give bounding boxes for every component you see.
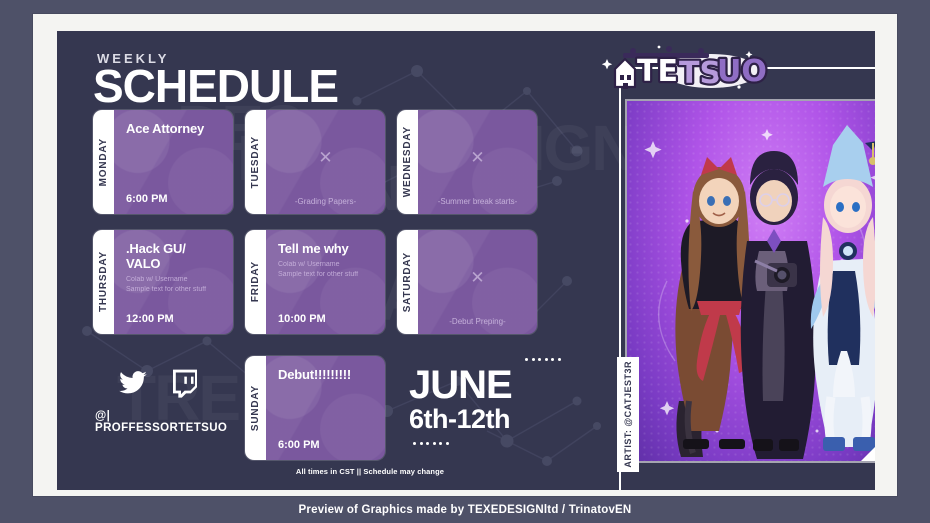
day-tab-wednesday: WEDNESDAY	[397, 110, 418, 214]
corner-cut-decoration	[861, 415, 875, 461]
social-icon-row	[115, 367, 245, 399]
day-card-monday[interactable]: MONDAY Ace Attorney 6:00 PM	[93, 110, 233, 214]
no-stream-x-icon: ✕	[418, 148, 537, 168]
stream-subtitle-line2: Sample text for other stuff	[126, 285, 221, 295]
page-title: SCHEDULE	[93, 64, 338, 109]
character-artwork	[627, 101, 875, 461]
day-label: TUESDAY	[250, 136, 261, 188]
stream-title: Ace Attorney	[126, 121, 221, 136]
no-stream-x-icon: ✕	[266, 148, 385, 168]
no-stream-x-icon: ✕	[418, 268, 537, 288]
stream-note: -Grading Papers-	[266, 197, 385, 206]
dot-decoration-top	[525, 358, 561, 361]
artist-credit: ARTIST: @CATJEST3R	[617, 357, 639, 472]
tetsuo-logo: TE TS UO	[599, 41, 769, 97]
day-card-body: .Hack GU/ VALO Colab w/ Username Sample …	[114, 230, 233, 334]
svg-text:TE: TE	[637, 54, 678, 89]
schedule-left-column: WEEKLY SCHEDULE MONDAY Ace Attorney 6:00…	[57, 31, 619, 490]
date-month: JUNE	[409, 367, 512, 404]
artist-credit-label: ARTIST: @CATJEST3R	[623, 361, 633, 468]
day-label: FRIDAY	[250, 261, 261, 302]
stream-time: 6:00 PM	[126, 193, 221, 205]
day-card-thursday[interactable]: THURSDAY .Hack GU/ VALO Colab w/ Usernam…	[93, 230, 233, 334]
day-tab-sunday: SUNDAY	[245, 356, 266, 460]
day-card-body: Debut!!!!!!!!! 6:00 PM	[266, 356, 385, 460]
stream-title: Debut!!!!!!!!!	[278, 367, 373, 382]
day-card-saturday[interactable]: SATURDAY ✕ -Debut Preping-	[397, 230, 537, 334]
stream-time: 10:00 PM	[278, 313, 373, 325]
day-tab-tuesday: TUESDAY	[245, 110, 266, 214]
day-tab-monday: MONDAY	[93, 110, 114, 214]
socials-block: @| PROFFESSORTETSUO	[95, 367, 245, 434]
stream-subtitle-line2: Sample text for other stuff	[278, 270, 373, 280]
stream-time: 6:00 PM	[278, 439, 373, 451]
twitch-icon[interactable]	[169, 367, 201, 399]
disclaimer-text: All times in CST || Schedule may change	[245, 467, 495, 476]
date-block: JUNE 6th-12th	[409, 367, 512, 433]
dot-decoration-bottom	[413, 442, 449, 445]
schedule-panel: MO NO TREA DES SIGN TRE WEEKLY SCHEDULE …	[57, 31, 875, 490]
day-card-body: ✕ -Debut Preping-	[418, 230, 537, 334]
stream-time: 12:00 PM	[126, 313, 221, 325]
day-card-body: Tell me why Colab w/ Username Sample tex…	[266, 230, 385, 334]
day-label: SUNDAY	[250, 385, 261, 431]
day-card-friday[interactable]: FRIDAY Tell me why Colab w/ Username Sam…	[245, 230, 385, 334]
twitter-bird-icon[interactable]	[115, 368, 151, 398]
social-handle: @| PROFFESSORTETSUO	[95, 410, 245, 434]
stream-subtitle-line1: Colab w/ Username	[278, 260, 373, 270]
day-label: SATURDAY	[402, 252, 413, 312]
three-character-illustration	[627, 101, 875, 461]
character-left	[675, 157, 749, 457]
day-card-body: ✕ -Grading Papers-	[266, 110, 385, 214]
footer-bar: Preview of Graphics made by TEXEDESIGNlt…	[0, 497, 930, 523]
stream-note: -Debut Preping-	[418, 317, 537, 326]
day-tab-thursday: THURSDAY	[93, 230, 114, 334]
day-card-body: ✕ -Summer break starts-	[418, 110, 537, 214]
date-range: 6th-12th	[409, 405, 512, 433]
day-label: THURSDAY	[98, 251, 109, 312]
day-card-wednesday[interactable]: WEDNESDAY ✕ -Summer break starts-	[397, 110, 537, 214]
stream-note: -Summer break starts-	[418, 197, 537, 206]
day-card-sunday[interactable]: SUNDAY Debut!!!!!!!!! 6:00 PM	[245, 356, 385, 460]
page-title-block: WEEKLY SCHEDULE	[93, 51, 338, 109]
artwork-column: TE TS UO	[619, 31, 875, 490]
character-right	[811, 125, 875, 451]
stream-subtitle-line1: Colab w/ Username	[126, 275, 221, 285]
day-card-body: Ace Attorney 6:00 PM	[114, 110, 233, 214]
footer-credit: Preview of Graphics made by TEXEDESIGNlt…	[299, 504, 632, 516]
day-label: WEDNESDAY	[402, 126, 413, 197]
character-middle	[741, 151, 816, 459]
svg-text:TS: TS	[679, 56, 721, 91]
svg-text:UO: UO	[717, 54, 767, 89]
day-tab-saturday: SATURDAY	[397, 230, 418, 334]
stream-title: Tell me why	[278, 241, 373, 256]
stream-title: .Hack GU/ VALO	[126, 241, 221, 271]
day-card-tuesday[interactable]: TUESDAY ✕ -Grading Papers-	[245, 110, 385, 214]
day-label: MONDAY	[98, 138, 109, 186]
day-tab-friday: FRIDAY	[245, 230, 266, 334]
